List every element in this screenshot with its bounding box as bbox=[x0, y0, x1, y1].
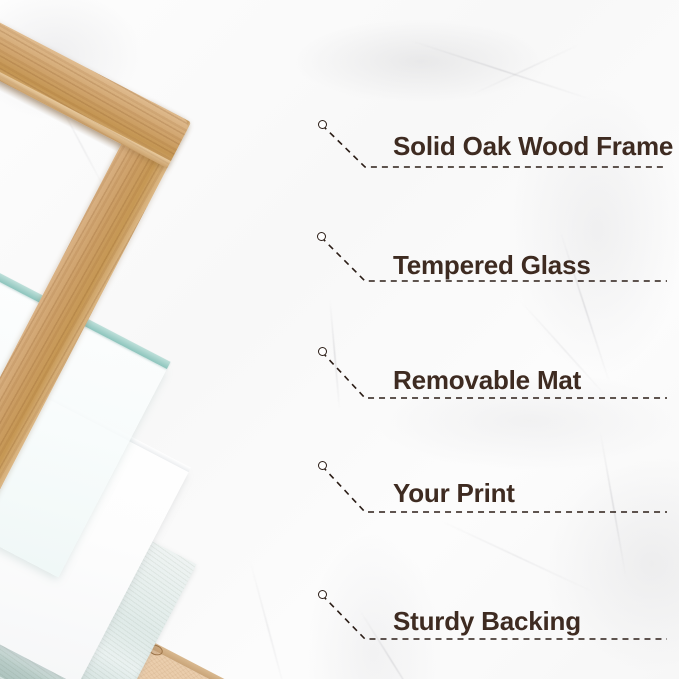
infographic-canvas: Solid Oak Wood FrameTempered GlassRemova… bbox=[0, 0, 679, 679]
exploded-frame-layers bbox=[0, 0, 679, 679]
frame-top-rail bbox=[0, 0, 191, 168]
